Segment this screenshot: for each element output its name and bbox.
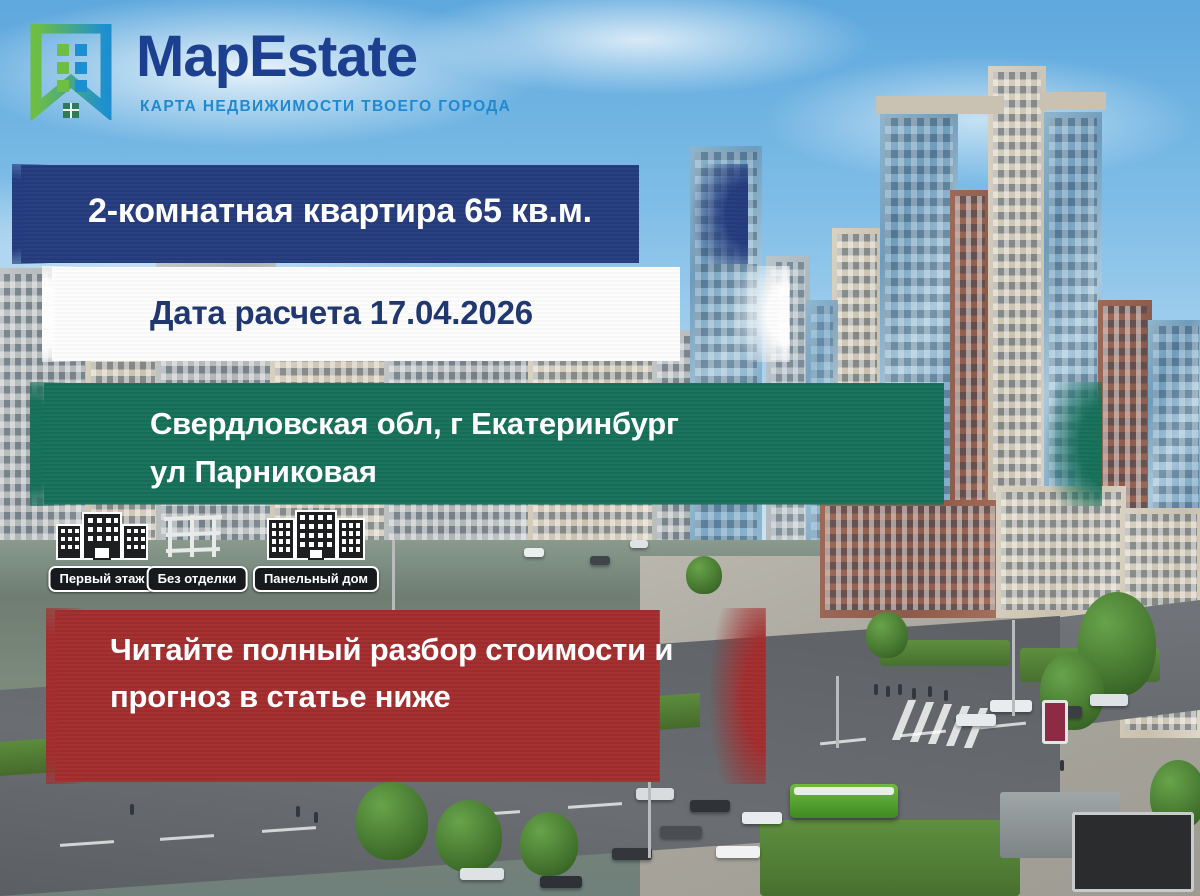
bookmark-building-icon (30, 24, 112, 120)
roof-cap-b (1040, 92, 1106, 110)
city-bus (790, 784, 898, 818)
badge-panel-house[interactable]: Панельный дом (256, 518, 376, 592)
lamp-post (1012, 620, 1015, 716)
pedestrian (912, 688, 916, 699)
pedestrian (130, 804, 134, 815)
car (460, 868, 504, 880)
scaffold-frame-icon (154, 511, 240, 566)
car (590, 556, 610, 565)
address-block: Свердловская обл, г Екатеринбург ул Парн… (150, 400, 1050, 496)
car (716, 846, 760, 858)
street-poster (1042, 700, 1068, 744)
badge-label: Без отделки (147, 566, 248, 592)
tree (520, 812, 578, 876)
address-line-2: ул Парниковая (150, 448, 1050, 496)
brand-logo[interactable]: MapEstate КАРТА НЕДВИЖИМОСТИ ТВОЕГО ГОРО… (30, 20, 550, 120)
apartment-title: 2-комнатная квартира 65 кв.м. (88, 192, 592, 231)
car (742, 812, 782, 824)
digital-billboard (1072, 812, 1194, 892)
tree (436, 800, 502, 872)
pedestrian (1060, 760, 1064, 771)
tree (866, 612, 908, 658)
car (956, 714, 996, 726)
badge-no-finishing[interactable]: Без отделки (142, 518, 252, 592)
poster-canvas: MapEstate КАРТА НЕДВИЖИМОСТИ ТВОЕГО ГОРО… (0, 0, 1200, 896)
tree (356, 782, 428, 860)
badge-label: Панельный дом (253, 566, 379, 592)
panel-building-icon (264, 509, 368, 566)
brand-name: MapEstate (136, 28, 417, 86)
address-line-1: Свердловская обл, г Екатеринбург (150, 400, 1050, 448)
cta-text: Читайте полный разбор стоимости и прогно… (110, 626, 750, 720)
car (1090, 694, 1128, 706)
pedestrian (898, 684, 902, 695)
pedestrian (296, 806, 300, 817)
car (660, 826, 702, 838)
car (630, 540, 648, 548)
lamp-post (836, 676, 839, 748)
car (540, 876, 582, 888)
calculation-date: Дата расчета 17.04.2026 (150, 294, 533, 332)
pedestrian (928, 686, 932, 697)
car (612, 848, 652, 860)
car (524, 548, 544, 557)
pedestrian (944, 690, 948, 701)
building-wings-icon (54, 511, 150, 566)
streetfront-brick (820, 500, 1000, 618)
car (690, 800, 730, 812)
brand-tagline: КАРТА НЕДВИЖИМОСТИ ТВОЕГО ГОРОДА (140, 98, 511, 116)
car (990, 700, 1032, 712)
pedestrian (874, 684, 878, 695)
roof-cap-a (876, 96, 1004, 114)
pedestrian (886, 686, 890, 697)
pedestrian (314, 812, 318, 823)
lamp-post (392, 540, 395, 610)
badge-label: Первый этаж (48, 566, 155, 592)
tree (686, 556, 722, 594)
car (636, 788, 674, 800)
lawn-patch (760, 820, 1020, 896)
